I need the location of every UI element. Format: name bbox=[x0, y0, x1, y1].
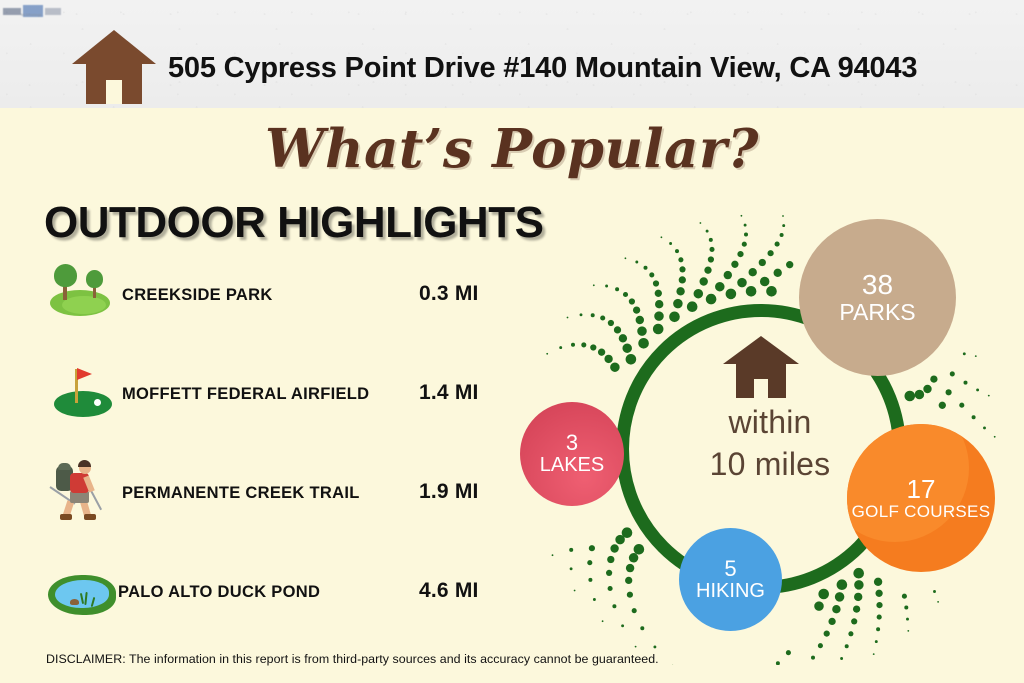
bubble-hiking-count: 5 bbox=[724, 557, 736, 581]
outdoor-highlights-heading: OUTDOOR HIGHLIGHTS bbox=[44, 198, 543, 248]
watermark-label: MLSListings bbox=[21, 13, 42, 17]
property-address: 505 Cypress Point Drive #140 Mountain Vi… bbox=[168, 52, 917, 85]
page-title: What’s Popular? bbox=[0, 118, 1024, 180]
bubble-parks-label: PARKS bbox=[839, 300, 915, 325]
list-item: PERMANENTE CREEK TRAIL 1.9 MI bbox=[44, 460, 504, 559]
bubble-hiking-label: HIKING bbox=[696, 581, 765, 603]
mls-watermark: MLSListings bbox=[3, 3, 73, 19]
bubble-golf-count: 17 bbox=[907, 475, 936, 503]
list-item-distance: 1.4 MI bbox=[419, 381, 479, 405]
list-item: MOFFETT FEDERAL AIRFIELD 1.4 MI bbox=[44, 361, 504, 460]
list-item-name: CREEKSIDE PARK bbox=[122, 286, 273, 305]
bubble-lakes[interactable]: 3 LAKES bbox=[520, 402, 624, 506]
list-item-name: PERMANENTE CREEK TRAIL bbox=[122, 484, 360, 503]
list-item: PALO ALTO DUCK POND 4.6 MI bbox=[44, 559, 504, 658]
list-item-distance: 0.3 MI bbox=[419, 282, 479, 306]
list-item-distance: 1.9 MI bbox=[419, 480, 479, 504]
golf-flag-icon bbox=[48, 361, 120, 423]
bubble-lakes-label: LAKES bbox=[540, 455, 604, 477]
within-10-miles-infographic: within 10 miles 38 PARKS 17 GOLF COURSES… bbox=[520, 195, 1024, 665]
bubble-parks[interactable]: 38 PARKS bbox=[799, 219, 956, 376]
home-icon bbox=[72, 30, 156, 104]
home-icon bbox=[723, 336, 799, 398]
pond-icon bbox=[48, 559, 120, 621]
bubble-golf-label: GOLF COURSES bbox=[852, 503, 991, 521]
park-trees-icon bbox=[48, 262, 120, 324]
list-item: CREEKSIDE PARK 0.3 MI bbox=[44, 262, 504, 361]
list-item-distance: 4.6 MI bbox=[419, 579, 479, 603]
list-item-name: PALO ALTO DUCK POND bbox=[118, 583, 320, 602]
bubble-parks-count: 38 bbox=[862, 270, 893, 300]
bubble-golf-courses[interactable]: 17 GOLF COURSES bbox=[847, 424, 995, 572]
outdoor-highlights-list: CREEKSIDE PARK 0.3 MI MOFFETT FEDERAL AI… bbox=[44, 262, 504, 658]
list-item-name: MOFFETT FEDERAL AIRFIELD bbox=[122, 385, 369, 404]
disclaimer-text: DISCLAIMER: The information in this repo… bbox=[46, 652, 659, 666]
bubble-hiking[interactable]: 5 HIKING bbox=[679, 528, 782, 631]
hiker-icon bbox=[48, 460, 120, 522]
bubble-lakes-count: 3 bbox=[566, 431, 578, 455]
